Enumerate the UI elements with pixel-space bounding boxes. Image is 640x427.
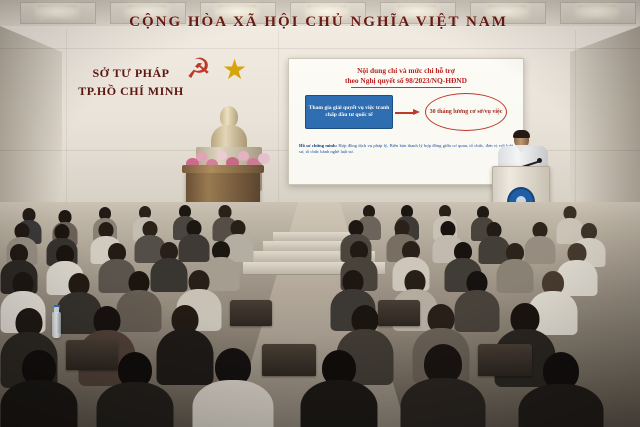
slide-note: Hồ sơ chứng minh: Hợp đồng dịch vụ pháp …	[299, 143, 513, 156]
wall-joint	[575, 30, 576, 202]
slide-title-underline	[351, 87, 461, 88]
wall-seam	[0, 48, 640, 49]
slide-title-line1: Nội dung chi và mức chi hỗ trợ	[297, 66, 515, 76]
wall-sign-line1: SỞ TƯ PHÁP	[72, 66, 190, 81]
ho-chi-minh-bust	[211, 106, 247, 152]
slide-title-line2: theo Nghị quyết số 98/2023/NQ-HĐND	[297, 76, 515, 86]
chair-back	[478, 344, 532, 376]
slide-blue-box: Tham gia giải quyết vụ việc tranh chấp đ…	[305, 95, 393, 129]
hammer-and-sickle-icon: ☭	[186, 55, 216, 85]
slide-red-ellipse: 30 tháng lương cơ sở/vụ việc	[425, 93, 507, 131]
wall-joint	[278, 30, 279, 202]
projection-screen: Nội dung chi và mức chi hỗ trợ theo Nghị…	[288, 58, 524, 185]
chair-back	[230, 300, 272, 326]
lectern-top	[182, 165, 264, 173]
wall-joint	[66, 30, 67, 202]
venue-banner-text: CỘNG HÒA XÃ HỘI CHỦ NGHĨA VIỆT NAM	[46, 14, 591, 36]
chair-back	[378, 300, 420, 326]
chair-back	[262, 344, 316, 376]
wall-sign: SỞ TƯ PHÁP TP.HỒ CHÍ MINH	[72, 66, 190, 99]
gold-star-icon: ★	[222, 56, 252, 86]
slide-title: Nội dung chi và mức chi hỗ trợ theo Nghị…	[297, 66, 515, 86]
audience-member	[400, 344, 486, 427]
conference-room-photo: CỘNG HÒA XÃ HỘI CHỦ NGHĨA VIỆT NAM SỞ TƯ…	[0, 0, 640, 427]
water-bottle	[52, 312, 61, 338]
slide-note-label: Hồ sơ chứng minh:	[299, 143, 337, 148]
wall-emblems: ☭ ★	[186, 55, 256, 89]
wall-sign-line2: TP.HỒ CHÍ MINH	[72, 84, 190, 99]
chair-back	[66, 340, 118, 370]
arrow-right-icon	[395, 109, 421, 116]
